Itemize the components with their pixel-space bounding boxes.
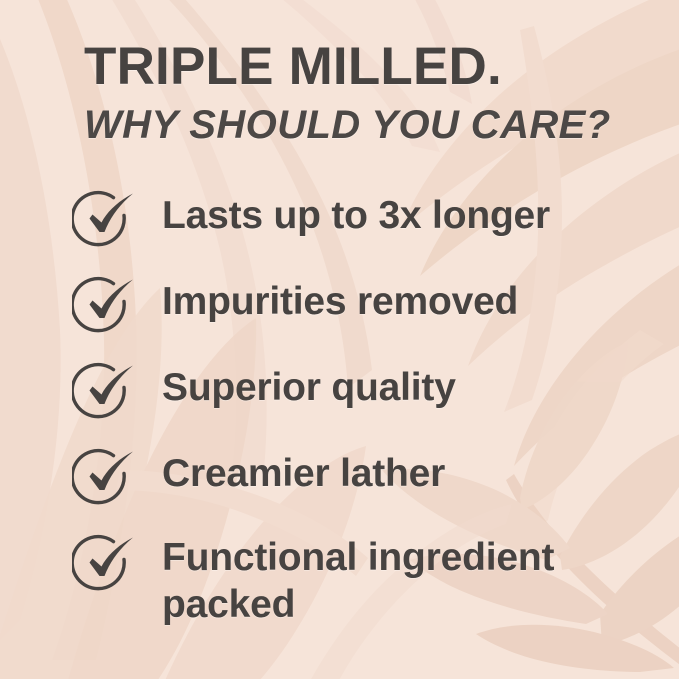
check-circle-icon (72, 533, 136, 597)
list-item-label: Functional ingredient packed (162, 534, 662, 628)
list-item-label: Creamier lather (162, 450, 662, 497)
list-item: Superior quality (0, 354, 679, 440)
list-item: Lasts up to 3x longer (0, 182, 679, 268)
check-circle-icon (72, 361, 136, 425)
list-item: Functional ingredient packed (0, 526, 679, 612)
page-title: TRIPLE MILLED. (84, 40, 502, 93)
list-item-label: Lasts up to 3x longer (162, 192, 662, 239)
page-subtitle: WHY SHOULD YOU CARE? (84, 105, 611, 145)
list-item: Creamier lather (0, 440, 679, 526)
content-layer: TRIPLE MILLED. WHY SHOULD YOU CARE? Last… (0, 0, 679, 679)
benefit-list: Lasts up to 3x longer Impurities removed (0, 182, 679, 612)
list-item-label: Superior quality (162, 364, 662, 411)
list-item: Impurities removed (0, 268, 679, 354)
check-circle-icon (72, 275, 136, 339)
list-item-label: Impurities removed (162, 278, 662, 325)
check-circle-icon (72, 189, 136, 253)
triple-milled-benefits-infographic: TRIPLE MILLED. WHY SHOULD YOU CARE? Last… (0, 0, 679, 679)
check-circle-icon (72, 447, 136, 511)
